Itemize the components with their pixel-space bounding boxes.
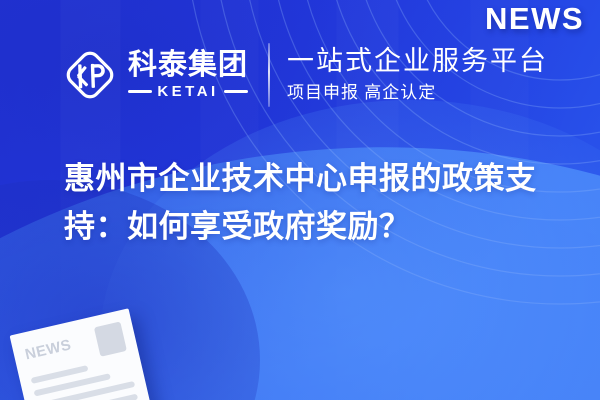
brand-name-en-row: KETAI [128,83,248,100]
brand-name-cn: 科泰集团 [128,50,248,80]
newspaper-thumbnail [94,321,127,356]
brand-rule-right [224,90,248,93]
news-banner: NEWS 科泰集团 [0,0,600,400]
brand-name-block: 科泰集团 KETAI [128,50,248,99]
brand-name-en: KETAI [157,83,218,100]
tagline-main: 一站式企业服务平台 [287,46,548,78]
news-wordmark: NEWS [485,3,584,34]
tagline-block: 一站式企业服务平台 项目申报 高企认定 [287,39,548,111]
brand-rule-left [128,90,152,93]
headline-title: 惠州市企业技术中心申报的政策支持：如何享受政府奖励？ [64,155,558,251]
newspaper-masthead: NEWS [24,337,73,362]
brand-header: 科泰集团 KETAI 一站式企业服务平台 项目申报 高企认定 [62,38,548,112]
tagline-sub: 项目申报 高企认定 [287,82,548,104]
ketai-diamond-kp-logo-icon [62,47,118,103]
header-divider [268,43,270,107]
